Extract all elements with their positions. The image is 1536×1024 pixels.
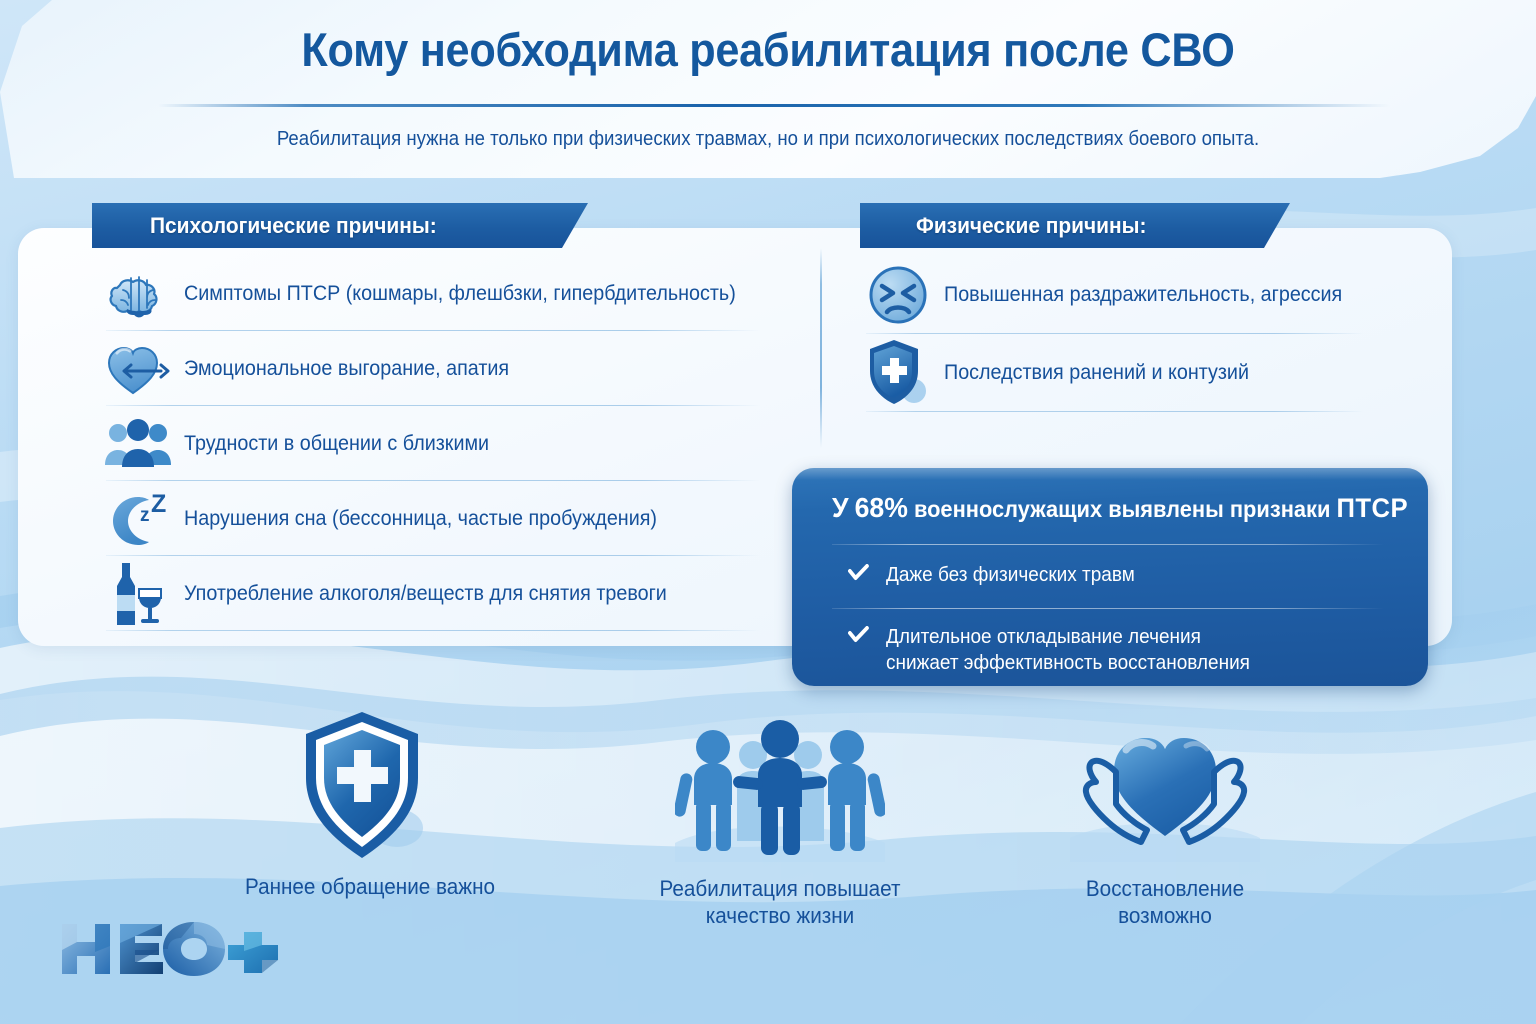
svg-text:Z: Z <box>151 491 166 518</box>
statistic-bullet: Даже без физических травм <box>848 562 1135 588</box>
page-subtitle: Реабилитация нужна не только при физичес… <box>54 128 1482 151</box>
list-item-label: Последствия ранений и контузий <box>944 361 1249 385</box>
statistic-headline: У 68% военнослужащих выявлены признаки П… <box>832 492 1375 524</box>
statistic-bullet-line: Даже без физических травм <box>886 564 1135 586</box>
heart-arrows-icon <box>92 341 184 397</box>
list-item-label: Повышенная раздражительность, агрессия <box>944 283 1342 307</box>
banner-physical: Физические причины: <box>860 203 1290 248</box>
svg-text:z: z <box>140 505 150 526</box>
people-group-icon <box>92 419 184 469</box>
banner-psychological-label: Психологические причины: <box>150 213 437 239</box>
list-item: Последствия ранений и контузий <box>852 334 1412 412</box>
statistic-divider <box>832 608 1384 609</box>
infographic-canvas: Кому необходима реабилитация после СВО Р… <box>0 0 1536 1024</box>
outcome-caption-line: возможно <box>1118 903 1212 928</box>
outcome-item: Раннее обращение важно <box>190 710 550 901</box>
list-item-label: Употребление алкоголя/веществ для снятия… <box>184 582 667 606</box>
outcome-caption-line: качество жизни <box>706 903 854 928</box>
outcome-caption-line: Реабилитация повышает <box>660 876 901 901</box>
physical-list: Повышенная раздражительность, агрессия П… <box>852 256 1412 412</box>
banner-physical-label: Физические причины: <box>916 213 1146 239</box>
list-item: Повышенная раздражительность, агрессия <box>852 256 1412 334</box>
people-group-illustration <box>600 712 960 862</box>
statistic-divider <box>832 544 1384 545</box>
statistic-headline-rest: военнослужащих выявлены признаки <box>914 496 1330 522</box>
psychological-list: Симптомы ПТСР (кошмары, флешбзки, гиперб… <box>92 256 782 631</box>
bottle-glass-icon <box>92 561 184 627</box>
angry-face-icon <box>852 264 944 326</box>
statistic-prefix: У <box>832 492 849 523</box>
list-item-label: Трудности в общении с близкими <box>184 432 489 456</box>
moon-sleep-icon: z Z <box>92 491 184 547</box>
statistic-callout: У 68% военнослужащих выявлены признаки П… <box>792 468 1428 686</box>
column-divider <box>820 248 822 448</box>
shield-cross-icon <box>852 338 944 408</box>
list-item-label: Нарушения сна (бессонница, частые пробуж… <box>184 507 657 531</box>
list-item: Эмоциональное выгорание, апатия <box>92 331 782 406</box>
list-item-label: Эмоциональное выгорание, апатия <box>184 357 509 381</box>
title-divider <box>158 104 1390 107</box>
outcome-caption: Реабилитация повышает качество жизни <box>611 876 949 930</box>
outcome-caption: Восстановление возможно <box>996 876 1334 930</box>
hands-heart-illustration <box>985 712 1345 862</box>
statistic-percent: 68% <box>855 492 908 523</box>
outcome-caption: Раннее обращение важно <box>201 874 539 901</box>
outcome-item: Реабилитация повышает качество жизни <box>600 712 960 930</box>
check-icon <box>848 564 869 587</box>
list-item: Трудности в общении с близкими <box>92 406 782 481</box>
banner-psychological: Психологические причины: <box>92 203 588 248</box>
list-item: z Z Нарушения сна (бессонница, частые пр… <box>92 481 782 556</box>
statistic-bullet-line: Длительное откладывание лечения <box>886 626 1201 648</box>
statistic-headline-tail: ПТСР <box>1336 493 1408 523</box>
statistic-bullet-line: снижает эффективность восстановления <box>886 652 1250 674</box>
outcome-item: Восстановление возможно <box>985 712 1345 930</box>
check-icon <box>848 626 869 649</box>
shield-cross-illustration <box>190 710 550 860</box>
page-title: Кому необходима реабилитация после СВО <box>61 22 1474 77</box>
outcome-caption-line: Восстановление <box>1086 876 1244 901</box>
brain-icon <box>92 268 184 320</box>
list-item: Симптомы ПТСР (кошмары, флешбзки, гиперб… <box>92 256 782 331</box>
outcome-caption-line: Раннее обращение важно <box>245 874 495 899</box>
list-item-label: Симптомы ПТСР (кошмары, флешбзки, гиперб… <box>184 282 736 306</box>
statistic-bullet: Длительное откладывание лечения снижает … <box>848 624 1250 677</box>
row-separator <box>106 630 760 631</box>
neo-plus-logo[interactable]: НЕО+ <box>58 918 278 985</box>
row-separator <box>866 411 1364 412</box>
list-item: Употребление алкоголя/веществ для снятия… <box>92 556 782 631</box>
